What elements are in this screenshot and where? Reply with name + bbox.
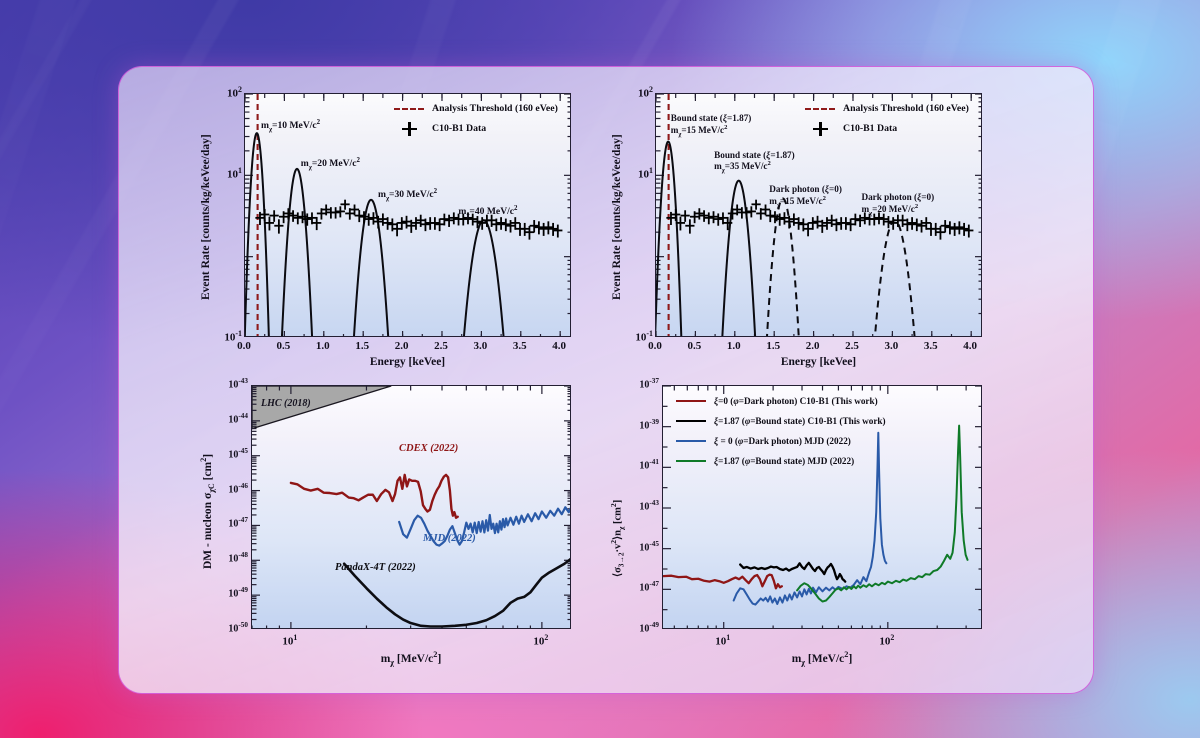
legend-label: Analysis Threshold (160 eVee) — [843, 103, 969, 114]
legend-row: ξ=0 (φ=Dark photon) C10-B1 (This work) — [676, 393, 886, 408]
x-axis-label: mχ [MeV/c2] — [366, 650, 456, 667]
curve-label-cdex: CDEX (2022) — [399, 443, 458, 455]
legend-row: ξ=1.87 (φ=Bound state) MJD (2022) — [676, 453, 886, 468]
xtick-label: 2.0 — [392, 340, 412, 353]
xtick-label: 2.5 — [431, 340, 451, 353]
peak-annotation: mχ=20 MeV/c2 — [301, 157, 360, 172]
ytick-label: 101 — [214, 166, 242, 181]
ytick-label: 102 — [625, 85, 653, 100]
legend-key-line — [676, 440, 706, 442]
xtick-label: 1.5 — [763, 340, 783, 353]
plot-frame-bottom-left — [251, 385, 571, 629]
y-axis-label: DM - nucleon σχC [cm2] — [199, 454, 216, 569]
legend-row: ξ=1.87 (φ=Bound state) C10-B1 (This work… — [676, 413, 886, 428]
curve-label-mjd: MJD (2022) — [423, 533, 476, 545]
legend-row: Analysis Threshold (160 eVee) — [805, 101, 969, 116]
xtick-label: 102 — [873, 633, 901, 648]
legend-top-left: Analysis Threshold (160 eVee)C10-B1 Data — [394, 101, 558, 141]
legend-row: C10-B1 Data — [805, 121, 969, 136]
peak-annotation: Bound state (ξ=1.87)mχ=15 MeV/c2 — [671, 113, 752, 138]
ytick-label: 10-49 — [625, 621, 659, 635]
ytick-label: 10-45 — [214, 447, 248, 461]
xtick-label: 2.0 — [803, 340, 823, 353]
xtick-label: 3.5 — [921, 340, 941, 353]
xtick-label: 1.5 — [352, 340, 372, 353]
xtick-label: 1.0 — [313, 340, 333, 353]
legend-label: ξ=1.87 (φ=Bound state) C10-B1 (This work… — [714, 416, 886, 426]
peak-annotation: mχ=40 MeV/c2 — [458, 205, 517, 220]
legend-label: ξ=1.87 (φ=Bound state) MJD (2022) — [714, 456, 854, 466]
legend-key-line — [676, 420, 706, 422]
figure-card: Analysis Threshold (160 eVee)C10-B1 Data… — [118, 66, 1094, 694]
legend-label: ξ = 0 (φ=Dark photon) MJD (2022) — [714, 436, 851, 446]
legend-row: Analysis Threshold (160 eVee) — [394, 101, 558, 116]
legend-label: ξ=0 (φ=Dark photon) C10-B1 (This work) — [714, 396, 878, 406]
legend-row: C10-B1 Data — [394, 121, 558, 136]
peak-annotation: Dark photon (ξ=0)mχ=20 MeV/c2 — [861, 192, 934, 217]
peak-annotation: mχ=30 MeV/c2 — [378, 188, 437, 203]
ytick-label: 10-43 — [625, 499, 659, 513]
ytick-label: 10-1 — [625, 329, 653, 344]
legend-label: C10-B1 Data — [843, 123, 897, 134]
xtick-label: 3.0 — [470, 340, 490, 353]
ytick-label: 10-44 — [214, 412, 248, 426]
ytick-label: 102 — [214, 85, 242, 100]
legend-bottom-right: ξ=0 (φ=Dark photon) C10-B1 (This work)ξ=… — [676, 393, 886, 473]
legend-key-plus-marker — [805, 122, 835, 136]
ytick-label: 10-37 — [625, 377, 659, 391]
ytick-label: 10-48 — [214, 551, 248, 565]
ytick-label: 10-39 — [625, 418, 659, 432]
xtick-label: 2.5 — [842, 340, 862, 353]
peak-annotation: Dark photon (ξ=0)mχ=15 MeV/c2 — [769, 184, 842, 209]
xtick-label: 0.5 — [684, 340, 704, 353]
ytick-label: 10-50 — [214, 621, 248, 635]
x-axis-label: Energy [keVee] — [771, 356, 867, 369]
ytick-label: 10-46 — [214, 482, 248, 496]
xtick-label: 101 — [276, 633, 304, 648]
xtick-label: 0.5 — [273, 340, 293, 353]
legend-key-plus-marker — [394, 122, 424, 136]
legend-key-dashed-line — [394, 108, 424, 110]
ytick-label: 10-47 — [625, 580, 659, 594]
legend-label: Analysis Threshold (160 eVee) — [432, 103, 558, 114]
figure-root: Analysis Threshold (160 eVee)C10-B1 Data… — [0, 0, 1200, 738]
xtick-label: 3.5 — [510, 340, 530, 353]
legend-label: C10-B1 Data — [432, 123, 486, 134]
legend-key-line — [676, 400, 706, 402]
ytick-label: 10-49 — [214, 586, 248, 600]
xtick-label: 101 — [709, 633, 737, 648]
peak-annotation: Bound state (ξ=1.87)mχ=35 MeV/c2 — [714, 150, 795, 175]
ytick-label: 101 — [625, 166, 653, 181]
ytick-label: 10-43 — [214, 377, 248, 391]
x-axis-label: Energy [keVee] — [360, 356, 456, 369]
legend-key-dashed-line — [805, 108, 835, 110]
curve-label-pandax: PandaX-4T (2022) — [335, 562, 416, 574]
xtick-label: 4.0 — [960, 340, 980, 353]
legend-key-line — [676, 460, 706, 462]
legend-top-right: Analysis Threshold (160 eVee)C10-B1 Data — [805, 101, 969, 141]
y-axis-label: Event Rate [counts/kg/keVee/day] — [200, 134, 213, 300]
ytick-label: 10-41 — [625, 458, 659, 472]
region-label-lhc: LHC (2018) — [261, 398, 311, 410]
peak-annotation: mχ=10 MeV/c2 — [261, 119, 320, 134]
y-axis-label: Event Rate [counts/kg/keVee/day] — [611, 134, 624, 300]
xtick-label: 3.0 — [881, 340, 901, 353]
ytick-label: 10-47 — [214, 516, 248, 530]
ytick-label: 10-1 — [214, 329, 242, 344]
x-axis-label: mχ [MeV/c2] — [777, 650, 867, 667]
xtick-label: 4.0 — [549, 340, 569, 353]
y-axis-label: ⟨σ3→2·v2⟩nχ [cm2] — [610, 500, 626, 577]
legend-row: ξ = 0 (φ=Dark photon) MJD (2022) — [676, 433, 886, 448]
ytick-label: 10-45 — [625, 540, 659, 554]
xtick-label: 102 — [527, 633, 555, 648]
xtick-label: 1.0 — [724, 340, 744, 353]
panel-grid: Analysis Threshold (160 eVee)C10-B1 Data… — [119, 67, 1093, 693]
